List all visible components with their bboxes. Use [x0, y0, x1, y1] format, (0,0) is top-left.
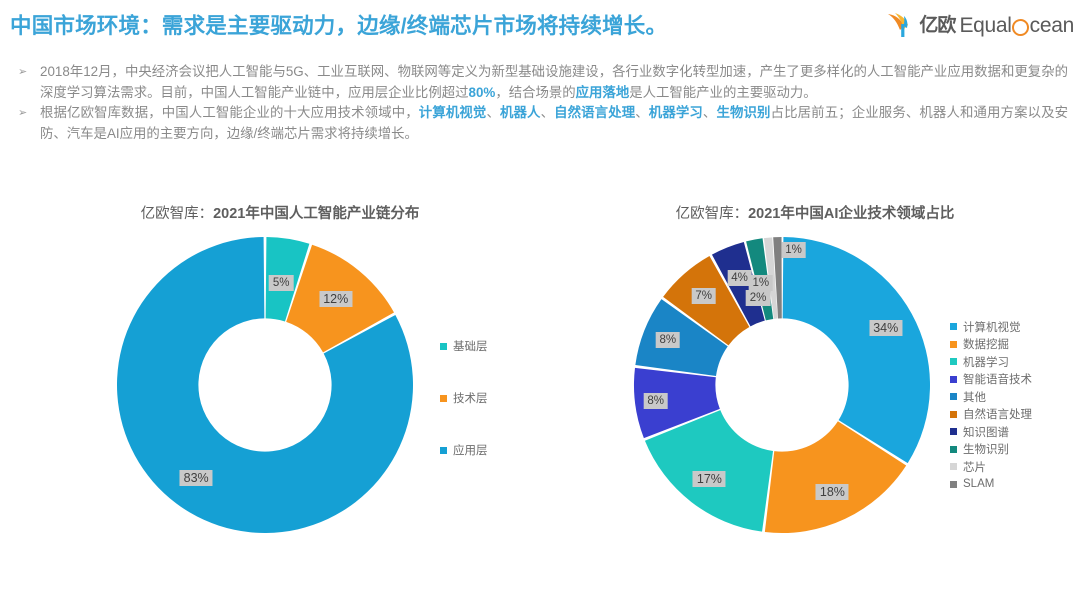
donut-chart-tech-domains: 34%18%17%8%8%7%4%2%1%1% — [632, 235, 932, 535]
body-text-segment: ，结合场景的 — [495, 85, 575, 100]
legend-swatch-icon — [950, 341, 957, 348]
chart-panel-industry-chain: 亿欧智库：2021年中国人工智能产业链分布 5%12%83% 基础层技术层应用层 — [20, 190, 540, 590]
pie-slice-label: 1% — [781, 242, 806, 258]
pie-slice-label: 1% — [749, 275, 774, 291]
legend-label: 应用层 — [453, 442, 488, 458]
legend-label: 其他 — [963, 389, 986, 405]
feather-logo-icon — [885, 10, 915, 40]
legend-label: 芯片 — [963, 459, 986, 475]
body-text-segment: 是人工智能产业的主要驱动力。 — [629, 85, 816, 100]
highlight-term: 80% — [469, 85, 496, 100]
legend-item[interactable]: 其他 — [950, 388, 1032, 406]
pie-slice-label: 34% — [869, 320, 902, 336]
legend-swatch-icon — [950, 358, 957, 365]
highlight-term: 机器学习 — [649, 105, 703, 120]
bullet-row: ➢根据亿欧智库数据，中国人工智能企业的十大应用技术领域中，计算机视觉、机器人、自… — [18, 103, 1068, 144]
legend-item[interactable]: 生物识别 — [950, 441, 1032, 459]
legend-swatch-icon — [950, 393, 957, 400]
brand-cean-text: cean — [1030, 15, 1074, 36]
legend-label: 生物识别 — [963, 441, 1009, 457]
pie-slice-label: 83% — [180, 470, 213, 486]
brand-logo: 亿欧 Equalcean — [885, 10, 1074, 40]
pie-slice-label: 18% — [816, 484, 849, 500]
legend-label: 智能语音技术 — [963, 371, 1032, 387]
chart-panel-tech-domains: 亿欧智库：2021年中国AI企业技术领域占比 34%18%17%8%8%7%4%… — [560, 190, 1070, 590]
legend-label: 基础层 — [453, 338, 488, 354]
brand-name-en: Equalcean — [959, 15, 1074, 36]
brand-name-cn: 亿欧 — [919, 16, 955, 35]
legend-label: 计算机视觉 — [963, 319, 1021, 335]
legend-tech-domains: 计算机视觉数据挖掘机器学习智能语音技术其他自然语言处理知识图谱生物识别芯片SLA… — [950, 318, 1032, 493]
legend-swatch-icon — [440, 343, 447, 350]
brand-equal-text: Equal — [959, 15, 1011, 36]
legend-swatch-icon — [950, 411, 957, 418]
chart-title-main: 2021年中国人工智能产业链分布 — [213, 206, 419, 222]
highlight-term: 生物识别 — [716, 105, 770, 120]
body-text-segment: 、 — [703, 105, 717, 120]
legend-industry-chain: 基础层技术层应用层 — [440, 320, 488, 476]
chart-title-industry-chain: 亿欧智库：2021年中国人工智能产业链分布 — [20, 202, 540, 223]
legend-item[interactable]: 芯片 — [950, 458, 1032, 476]
pie-slice-label: 17% — [693, 471, 726, 487]
legend-item[interactable]: 基础层 — [440, 320, 488, 372]
pie-slice-label: 8% — [655, 332, 680, 348]
pie-slice[interactable] — [783, 237, 930, 463]
body-text-segment: 、 — [486, 105, 500, 120]
chart-title-prefix: 亿欧智库： — [676, 206, 749, 222]
legend-swatch-icon — [950, 428, 957, 435]
legend-item[interactable]: 机器学习 — [950, 353, 1032, 371]
pie-slice-label: 5% — [269, 275, 294, 291]
body-text-segment: 根据亿欧智库数据，中国人工智能企业的十大应用技术领域中， — [40, 105, 419, 120]
legend-swatch-icon — [950, 446, 957, 453]
highlight-term: 自然语言处理 — [554, 105, 635, 120]
legend-swatch-icon — [950, 323, 957, 330]
page-title: 中国市场环境：需求是主要驱动力，边缘/终端芯片市场将持续增长。 — [10, 9, 667, 40]
legend-label: 技术层 — [453, 390, 488, 406]
legend-label: SLAM — [963, 478, 994, 490]
donut-chart-industry-chain: 5%12%83% — [115, 235, 415, 535]
page-header: 中国市场环境：需求是主要驱动力，边缘/终端芯片市场将持续增长。 亿欧 Equal… — [0, 0, 1080, 52]
legend-item[interactable]: 计算机视觉 — [950, 318, 1032, 336]
legend-item[interactable]: SLAM — [950, 476, 1032, 494]
pie-slice-label: 2% — [746, 290, 771, 306]
legend-swatch-icon — [440, 395, 447, 402]
legend-item[interactable]: 自然语言处理 — [950, 406, 1032, 424]
legend-swatch-icon — [950, 463, 957, 470]
bullet-text: 2018年12月，中央经济会议把人工智能与5G、工业互联网、物联网等定义为新型基… — [40, 62, 1068, 103]
bullet-row: ➢2018年12月，中央经济会议把人工智能与5G、工业互联网、物联网等定义为新型… — [18, 62, 1068, 103]
legend-label: 自然语言处理 — [963, 406, 1032, 422]
bullet-arrow-icon: ➢ — [18, 62, 40, 83]
legend-item[interactable]: 知识图谱 — [950, 423, 1032, 441]
donut-svg-industry-chain — [115, 235, 415, 535]
chart-title-tech-domains: 亿欧智库：2021年中国AI企业技术领域占比 — [560, 202, 1070, 223]
bullet-arrow-icon: ➢ — [18, 103, 40, 124]
legend-swatch-icon — [440, 447, 447, 454]
pie-slice-label: 12% — [319, 291, 352, 307]
legend-item[interactable]: 技术层 — [440, 372, 488, 424]
body-text-segment: 、 — [635, 105, 649, 120]
legend-item[interactable]: 数据挖掘 — [950, 336, 1032, 354]
legend-item[interactable]: 应用层 — [440, 424, 488, 476]
pie-slice-label: 7% — [691, 288, 716, 304]
pie-slice-label: 8% — [643, 393, 668, 409]
highlight-term: 应用落地 — [576, 85, 630, 100]
legend-swatch-icon — [950, 481, 957, 488]
legend-label: 知识图谱 — [963, 424, 1009, 440]
chart-title-main: 2021年中国AI企业技术领域占比 — [748, 206, 954, 222]
legend-label: 机器学习 — [963, 354, 1009, 370]
bullet-text: 根据亿欧智库数据，中国人工智能企业的十大应用技术领域中，计算机视觉、机器人、自然… — [40, 103, 1068, 144]
legend-item[interactable]: 智能语音技术 — [950, 371, 1032, 389]
legend-swatch-icon — [950, 376, 957, 383]
o-ring-icon — [1012, 19, 1029, 36]
donut-svg-tech-domains — [632, 235, 932, 535]
charts-area: 亿欧智库：2021年中国人工智能产业链分布 5%12%83% 基础层技术层应用层… — [0, 190, 1080, 590]
highlight-term: 计算机视觉 — [419, 105, 487, 120]
body-text-segment: 、 — [541, 105, 555, 120]
body-copy: ➢2018年12月，中央经济会议把人工智能与5G、工业互联网、物联网等定义为新型… — [18, 62, 1068, 144]
chart-title-prefix: 亿欧智库： — [141, 206, 214, 222]
legend-label: 数据挖掘 — [963, 336, 1009, 352]
highlight-term: 机器人 — [500, 105, 541, 120]
